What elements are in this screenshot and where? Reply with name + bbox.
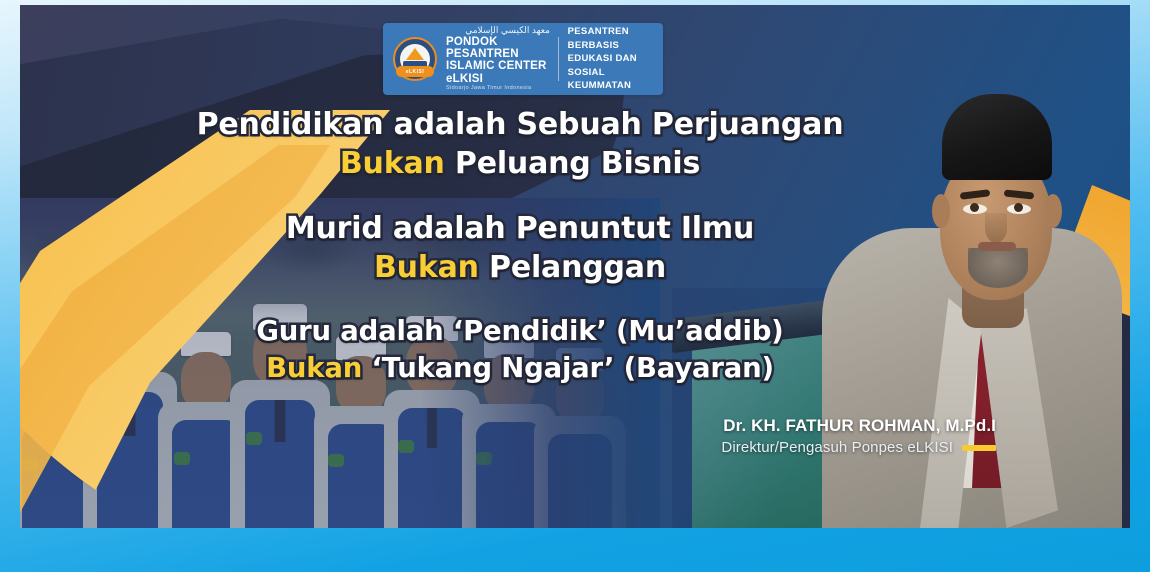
quote-2: Murid adalah Penuntut Ilmu Bukan Pelangg…	[150, 209, 890, 287]
speaker-ear-right	[1044, 194, 1062, 228]
quote-3-rest: ‘Tukang Ngajar’ (Bayaran)	[362, 352, 774, 384]
logo-line-2: ISLAMIC CENTER eLKISI	[446, 60, 550, 85]
accent-dash	[962, 445, 996, 451]
quote-1-line-2: Bukan Peluang Bisnis	[150, 144, 890, 183]
logo-tagline: PESANTREN BERBASIS EDUKASI DAN SOSIAL KE…	[568, 25, 653, 92]
artboard: eLKISI معهد الكيسي الإسلامي PONDOK PESAN…	[20, 5, 1130, 528]
logo-bar: eLKISI معهد الكيسي الإسلامي PONDOK PESAN…	[383, 23, 663, 95]
quote-1-highlight: Bukan	[340, 146, 445, 181]
speaker-name: Dr. KH. FATHUR ROHMAN, M.Pd.I	[721, 416, 996, 436]
emblem-banner-label: eLKISI	[396, 66, 434, 77]
logo-divider	[558, 37, 559, 81]
speaker-pupil-right	[1014, 203, 1023, 212]
speaker-role: Direktur/Pengasuh Ponpes eLKISI	[721, 439, 953, 456]
emblem-dome-icon	[406, 48, 424, 60]
speaker-mouth	[978, 242, 1016, 251]
elkisi-emblem-icon: eLKISI	[393, 37, 437, 81]
quote-2-line-1: Murid adalah Penuntut Ilmu	[150, 209, 890, 248]
speaker-beard	[968, 248, 1028, 288]
logo-line-3: Sidoarjo Jawa Timur Indonesia	[446, 86, 550, 92]
quote-3-line-2: Bukan ‘Tukang Ngajar’ (Bayaran)	[150, 350, 890, 387]
quote-3: Guru adalah ‘Pendidik’ (Mu’addib) Bukan …	[150, 313, 890, 387]
speaker-nose	[985, 213, 1007, 243]
quote-1-rest: Peluang Bisnis	[445, 146, 700, 181]
quotes-block: Pendidikan adalah Sebuah Perjuangan Buka…	[150, 105, 890, 387]
quote-3-line-1: Guru adalah ‘Pendidik’ (Mu’addib)	[150, 313, 890, 350]
logo-arabic-name: معهد الكيسي الإسلامي	[446, 26, 550, 36]
speaker-peci-cap	[942, 94, 1052, 180]
logo-text-block: معهد الكيسي الإسلامي PONDOK PESANTREN IS…	[446, 26, 550, 92]
speaker-role-row: Direktur/Pengasuh Ponpes eLKISI	[721, 439, 996, 456]
quote-2-line-2: Bukan Pelanggan	[150, 248, 890, 287]
quote-1: Pendidikan adalah Sebuah Perjuangan Buka…	[150, 105, 890, 183]
speaker-pupil-left	[970, 203, 979, 212]
quote-3-highlight: Bukan	[266, 352, 362, 384]
quote-2-rest: Pelanggan	[479, 250, 666, 285]
banner-root: eLKISI معهد الكيسي الإسلامي PONDOK PESAN…	[0, 0, 1150, 572]
attribution: Dr. KH. FATHUR ROHMAN, M.Pd.I Direktur/P…	[721, 416, 996, 456]
quote-1-line-1: Pendidikan adalah Sebuah Perjuangan	[150, 105, 890, 144]
logo-line-1: PONDOK PESANTREN	[446, 36, 550, 61]
quote-2-highlight: Bukan	[374, 250, 479, 285]
speaker-ear-left	[932, 194, 950, 228]
